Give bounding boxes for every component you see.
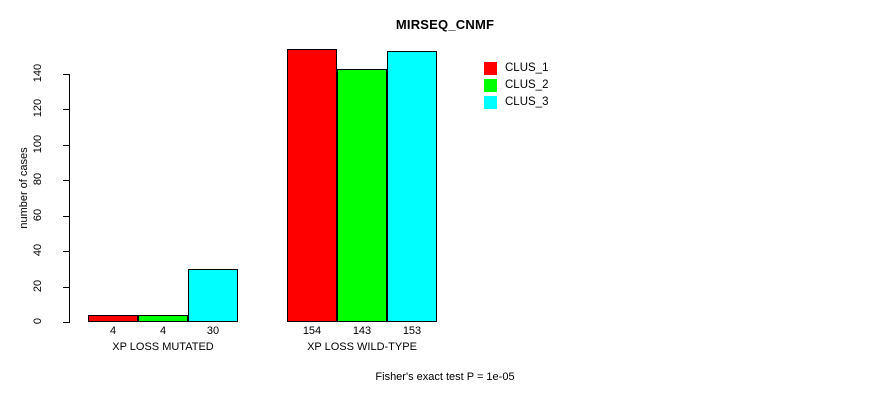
bar-value-label: 143 — [337, 325, 387, 337]
legend-color-swatch-icon — [484, 62, 497, 75]
y-tick-mark — [63, 180, 70, 181]
y-tick-mark — [63, 74, 70, 75]
legend-label: CLUS_1 — [505, 62, 548, 74]
legend-item: CLUS_2 — [484, 77, 548, 93]
y-tick-label: 0 — [32, 301, 44, 341]
y-tick-label: 80 — [32, 159, 44, 199]
legend: CLUS_1CLUS_2CLUS_3 — [484, 60, 548, 111]
bar-value-label: 30 — [188, 325, 238, 337]
y-tick-label: 60 — [32, 195, 44, 235]
y-tick-label: 40 — [32, 230, 44, 270]
y-tick-mark — [63, 216, 70, 217]
bar-value-label: 4 — [88, 325, 138, 337]
chart-canvas: MIRSEQ_CNMF 020406080100120140 number of… — [0, 0, 890, 400]
bar-clus_3-group-2 — [387, 51, 437, 322]
chart-title: MIRSEQ_CNMF — [0, 17, 890, 32]
bar-clus_2-group-2 — [337, 69, 387, 322]
y-tick-label: 100 — [32, 124, 44, 164]
y-axis-title: number of cases — [18, 128, 30, 248]
legend-item: CLUS_1 — [484, 60, 548, 76]
y-tick-mark — [63, 145, 70, 146]
bar-clus_2-group-1 — [138, 315, 188, 322]
legend-color-swatch-icon — [484, 79, 497, 92]
y-tick-mark — [63, 322, 70, 323]
bar-value-label: 154 — [287, 325, 337, 337]
group-label: XP LOSS MUTATED — [48, 341, 278, 353]
bar-value-label: 153 — [387, 325, 437, 337]
statistical-annotation: Fisher's exact test P = 1e-05 — [0, 371, 890, 383]
y-tick-label: 140 — [32, 53, 44, 93]
bar-clus_1-group-1 — [88, 315, 138, 322]
y-tick-mark — [63, 287, 70, 288]
y-tick-label: 120 — [32, 88, 44, 128]
legend-label: CLUS_2 — [505, 79, 548, 91]
y-tick-mark — [63, 109, 70, 110]
bar-clus_1-group-2 — [287, 49, 337, 322]
legend-color-swatch-icon — [484, 96, 497, 109]
y-tick-mark — [63, 251, 70, 252]
legend-item: CLUS_3 — [484, 94, 548, 110]
bar-clus_3-group-1 — [188, 269, 238, 322]
legend-label: CLUS_3 — [505, 96, 548, 108]
bar-value-label: 4 — [138, 325, 188, 337]
group-label: XP LOSS WILD-TYPE — [247, 341, 477, 353]
y-tick-label: 20 — [32, 266, 44, 306]
